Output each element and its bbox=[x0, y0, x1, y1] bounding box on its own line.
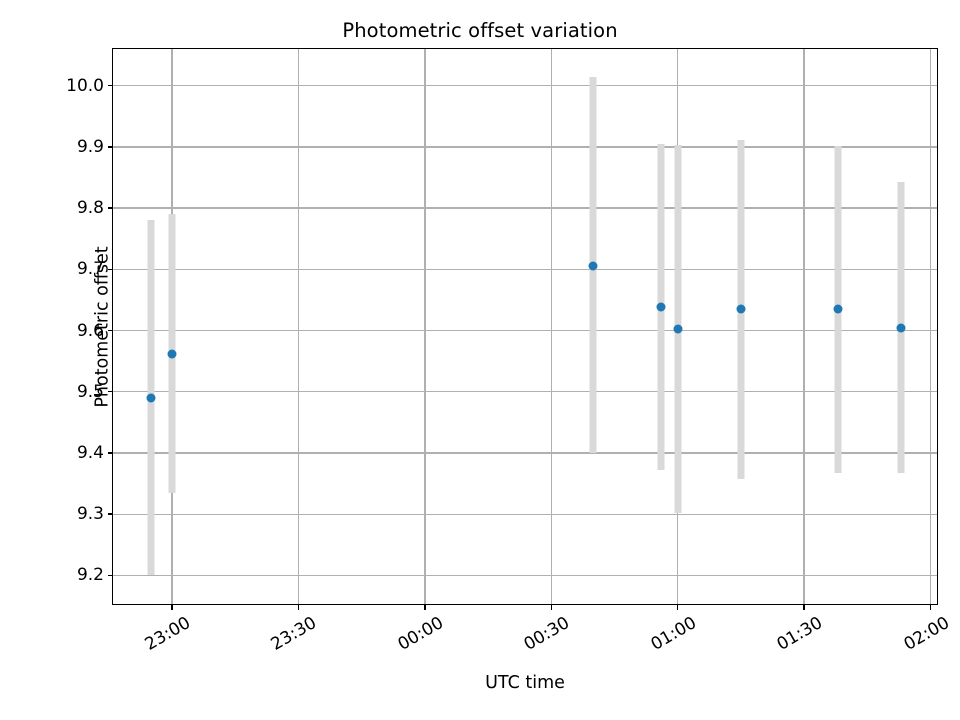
gridline-horizontal bbox=[113, 330, 937, 331]
y-tick-label: 9.5 bbox=[77, 382, 104, 402]
data-point bbox=[736, 305, 745, 314]
data-point bbox=[146, 393, 155, 402]
x-tick-mark bbox=[424, 604, 425, 610]
y-tick-mark bbox=[108, 513, 114, 514]
y-tick-label: 9.2 bbox=[77, 565, 104, 585]
data-point bbox=[673, 324, 682, 333]
x-tick-label: 23:00 bbox=[142, 613, 194, 655]
y-tick-mark bbox=[108, 146, 114, 147]
gridline-horizontal bbox=[113, 85, 937, 86]
plot-axes: 9.29.39.49.59.69.79.89.910.023:0023:3000… bbox=[112, 48, 938, 605]
gridline-horizontal bbox=[113, 269, 937, 270]
y-tick-label: 9.4 bbox=[77, 443, 104, 463]
x-tick-mark bbox=[298, 604, 299, 610]
x-tick-mark bbox=[677, 604, 678, 610]
y-tick-label: 9.8 bbox=[77, 198, 104, 218]
y-tick-mark bbox=[108, 269, 114, 270]
y-tick-mark bbox=[108, 207, 114, 208]
gridline-horizontal bbox=[113, 207, 937, 208]
x-tick-label: 00:00 bbox=[394, 613, 446, 655]
gridline-horizontal bbox=[113, 391, 937, 392]
gridline-horizontal bbox=[113, 146, 937, 147]
y-tick-label: 9.3 bbox=[77, 504, 104, 524]
x-tick-label: 23:30 bbox=[268, 613, 320, 655]
plot-area bbox=[113, 49, 937, 604]
x-tick-label: 00:30 bbox=[521, 613, 573, 655]
y-tick-mark bbox=[108, 391, 114, 392]
y-tick-label: 9.9 bbox=[77, 137, 104, 157]
y-tick-mark bbox=[108, 452, 114, 453]
y-tick-label: 10.0 bbox=[66, 76, 104, 96]
x-tick-label: 02:00 bbox=[900, 613, 952, 655]
x-axis-label: UTC time bbox=[112, 673, 938, 693]
gridline-vertical bbox=[551, 49, 552, 604]
gridline-vertical bbox=[424, 49, 425, 604]
gridline-vertical bbox=[930, 49, 931, 604]
x-tick-label: 01:30 bbox=[774, 613, 826, 655]
x-tick-mark bbox=[930, 604, 931, 610]
x-tick-label: 01:00 bbox=[647, 613, 699, 655]
gridline-horizontal bbox=[113, 452, 937, 453]
data-point bbox=[656, 303, 665, 312]
gridline-horizontal bbox=[113, 575, 937, 576]
y-tick-label: 9.7 bbox=[77, 259, 104, 279]
data-point bbox=[897, 324, 906, 333]
x-tick-mark bbox=[551, 604, 552, 610]
gridline-vertical bbox=[803, 49, 804, 604]
y-tick-label: 9.6 bbox=[77, 321, 104, 341]
data-point bbox=[589, 262, 598, 271]
gridline-horizontal bbox=[113, 514, 937, 515]
chart-title: Photometric offset variation bbox=[0, 19, 960, 42]
data-point bbox=[168, 349, 177, 358]
data-point bbox=[833, 305, 842, 314]
figure-canvas: Photometric offset variation Photometric… bbox=[0, 0, 960, 720]
y-tick-mark bbox=[108, 575, 114, 576]
y-tick-mark bbox=[108, 85, 114, 86]
y-tick-mark bbox=[108, 330, 114, 331]
x-tick-mark bbox=[803, 604, 804, 610]
gridline-vertical bbox=[298, 49, 299, 604]
x-tick-mark bbox=[171, 604, 172, 610]
